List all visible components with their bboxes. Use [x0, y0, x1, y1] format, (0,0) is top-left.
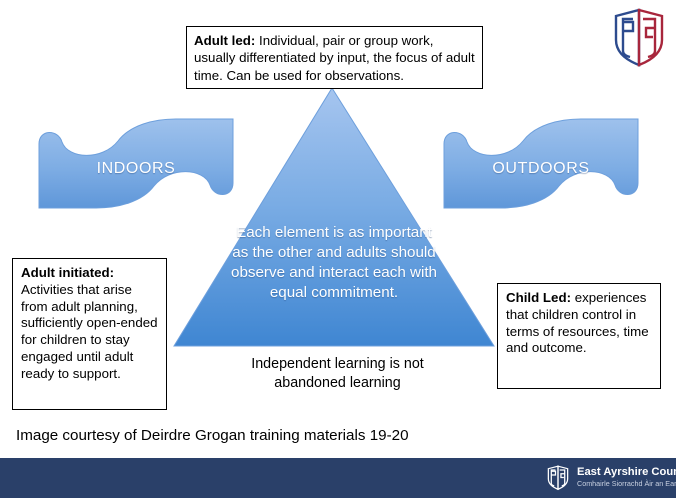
triangle-caption: Independent learning is not abandoned le… — [215, 355, 460, 393]
callout-adult-initiated-title: Adult initiated: — [21, 265, 114, 280]
callout-child-led-title: Child Led: — [506, 290, 571, 305]
attribution-text: Image courtesy of Deirdre Grogan trainin… — [16, 427, 409, 444]
callout-adult-initiated-body: Activities that arise from adult plannin… — [21, 282, 158, 381]
central-triangle: Each element is as important as the othe… — [170, 84, 498, 352]
callout-adult-led: Adult led: Individual, pair or group wor… — [186, 26, 483, 89]
footer-bar: East Ayrshire Council Comhairle Siorrach… — [0, 458, 676, 498]
footer-logo: East Ayrshire Council Comhairle Siorrach… — [545, 464, 676, 491]
footer-org-name-gaelic: Comhairle Siorrachd Àir an Ear — [577, 480, 676, 488]
callout-adult-led-title: Adult led: — [194, 33, 255, 48]
triangle-text: Each element is as important as the othe… — [230, 223, 438, 303]
callout-child-led: Child Led: experiences that children con… — [497, 283, 661, 389]
east-ayrshire-shield-icon — [608, 6, 670, 68]
footer-shield-icon — [545, 464, 571, 491]
slide-canvas: INDOORS OUTDOORS — [0, 0, 676, 498]
footer-logo-text: East Ayrshire Council Comhairle Siorrach… — [577, 467, 676, 487]
callout-adult-initiated: Adult initiated: Activities that arise f… — [12, 258, 167, 410]
footer-org-name: East Ayrshire Council — [577, 467, 676, 479]
